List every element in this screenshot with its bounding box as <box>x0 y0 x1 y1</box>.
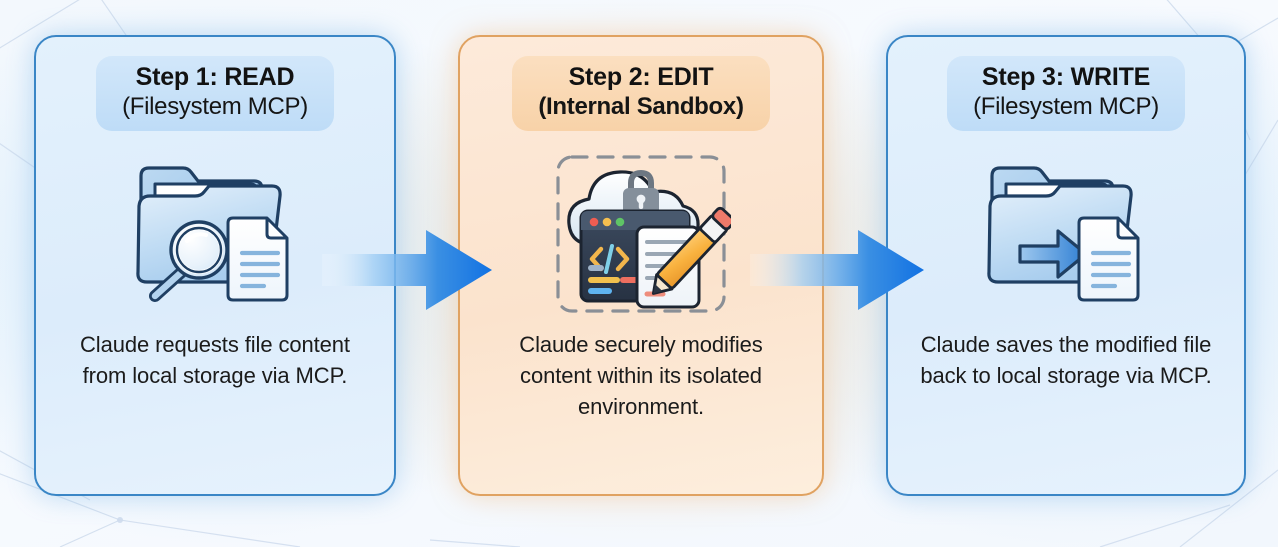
step-1-caption: Claude requests file content from local … <box>68 329 362 391</box>
step-1-header: Step 1: READ (Filesystem MCP) <box>96 56 334 131</box>
step-card-edit[interactable]: Step 2: EDIT (Internal Sandbox) <box>458 35 824 496</box>
secure-cloud-code-editor-icon <box>551 149 731 319</box>
step-1-title: Step 1: READ <box>122 63 308 93</box>
step-1-subtitle: (Filesystem MCP) <box>122 93 308 121</box>
folder-search-document-icon <box>125 149 305 319</box>
step-card-read[interactable]: Step 1: READ (Filesystem MCP) <box>34 35 396 496</box>
folder-arrow-document-icon <box>976 149 1156 319</box>
step-2-caption: Claude securely modifies content within … <box>493 329 790 423</box>
step-card-write[interactable]: Step 3: WRITE (Filesystem MCP) <box>886 35 1246 496</box>
step-3-subtitle: (Filesystem MCP) <box>973 93 1159 121</box>
step-2-subtitle: (Internal Sandbox) <box>538 93 743 121</box>
step-3-header: Step 3: WRITE (Filesystem MCP) <box>947 56 1185 131</box>
step-2-title: Step 2: EDIT <box>538 63 743 93</box>
diagram-canvas: Step 1: READ (Filesystem MCP) <box>0 0 1278 547</box>
step-3-title: Step 3: WRITE <box>973 63 1159 93</box>
step-2-header: Step 2: EDIT (Internal Sandbox) <box>512 56 769 131</box>
step-3-caption: Claude saves the modified file back to l… <box>920 329 1212 391</box>
